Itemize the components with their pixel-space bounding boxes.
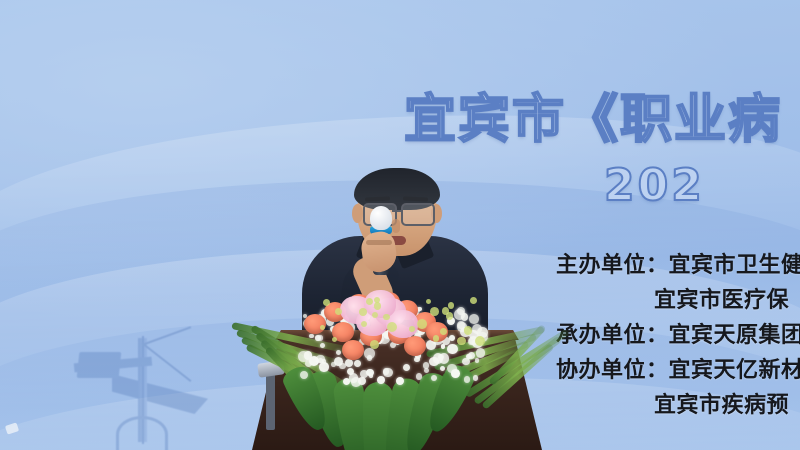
white-spray-flower: [441, 344, 445, 348]
credit-line-coorganiser: 协办单位：宜宾天亿新材: [556, 353, 800, 388]
backdrop-headline: 宜宾市《职业病: [404, 94, 782, 146]
photo-frame: 宜宾市《职业病 202 主办单位：宜宾市卫生健 宜宾市医疗保 承办单位：宜宾天原…: [0, 0, 800, 450]
filler-sprig: [335, 308, 342, 315]
white-spray-flower: [318, 335, 324, 341]
white-spray-flower: [339, 363, 345, 369]
credit-line-organiser: 承办单位：宜宾天原集团: [556, 318, 800, 353]
filler-sprig: [430, 307, 439, 316]
white-spray-flower: [336, 350, 341, 355]
crane-silhouette-graphic: [20, 330, 250, 450]
backdrop-year: 202: [604, 164, 705, 208]
white-spray-flower: [468, 352, 475, 359]
white-spray-flower: [417, 307, 421, 311]
credit-line-host-2: 宜宾市医疗保: [556, 283, 800, 318]
filler-sprig: [374, 302, 381, 309]
coral-rose: [404, 336, 426, 356]
filler-sprig: [359, 308, 367, 316]
white-spray-flower: [309, 334, 313, 338]
white-spray-flower: [423, 362, 430, 369]
filler-sprig: [448, 302, 455, 309]
white-spray-flower: [383, 368, 392, 377]
white-spray-flower: [461, 313, 468, 320]
white-spray-flower: [403, 364, 410, 371]
white-spray-flower: [396, 377, 404, 385]
white-spray-flower: [319, 362, 329, 372]
white-spray-flower: [354, 360, 361, 367]
filler-sprig: [332, 337, 338, 343]
white-spray-flower: [429, 357, 438, 366]
white-spray-flower: [364, 348, 375, 359]
flower-arrangement: [228, 278, 528, 450]
filler-sprig: [323, 299, 330, 306]
white-spray-flower: [451, 369, 460, 378]
speaker-nose: [392, 219, 400, 233]
coral-rose: [342, 340, 364, 360]
coral-rose: [304, 314, 326, 334]
white-spray-flower: [349, 373, 358, 382]
white-spray-flower: [476, 348, 486, 358]
white-spray-flower: [464, 376, 471, 383]
filler-sprig: [433, 335, 440, 342]
filler-sprig: [475, 336, 485, 346]
filler-sprig: [417, 319, 427, 329]
white-spray-flower: [447, 344, 457, 354]
speaker-knuckles: [366, 240, 392, 245]
white-spray-flower: [358, 377, 366, 385]
credit-line-coorganiser-2: 宜宾市疾病预: [556, 388, 800, 423]
white-spray-flower: [475, 358, 480, 363]
credit-line-host: 主办单位：宜宾市卫生健: [556, 248, 800, 283]
filler-sprig: [409, 326, 415, 332]
filler-sprig: [457, 337, 465, 345]
white-spray-flower: [462, 358, 469, 365]
white-spray-flower: [439, 353, 449, 363]
organiser-credits: 主办单位：宜宾市卫生健 宜宾市医疗保 承办单位：宜宾天原集团 协办单位：宜宾天亿…: [556, 248, 800, 423]
filler-sprig: [440, 328, 447, 335]
filler-sprig: [464, 326, 473, 335]
white-spray-flower: [369, 373, 374, 378]
speaker-ear-left: [352, 204, 363, 223]
filler-sprig: [470, 297, 477, 304]
eyeglasses-lens-right: [401, 203, 435, 226]
filler-sprig: [366, 298, 373, 305]
white-spray-flower: [331, 362, 335, 366]
white-spray-flower: [449, 335, 455, 341]
filler-sprig: [370, 340, 379, 349]
microphone-head: [370, 206, 392, 230]
eyeglasses-bridge: [392, 210, 402, 212]
filler-sprig: [426, 299, 431, 304]
filler-sprig: [383, 314, 389, 320]
white-spray-flower: [345, 359, 353, 367]
white-spray-flower: [473, 375, 478, 380]
white-spray-flower: [469, 314, 479, 324]
white-spray-flower: [416, 373, 422, 379]
